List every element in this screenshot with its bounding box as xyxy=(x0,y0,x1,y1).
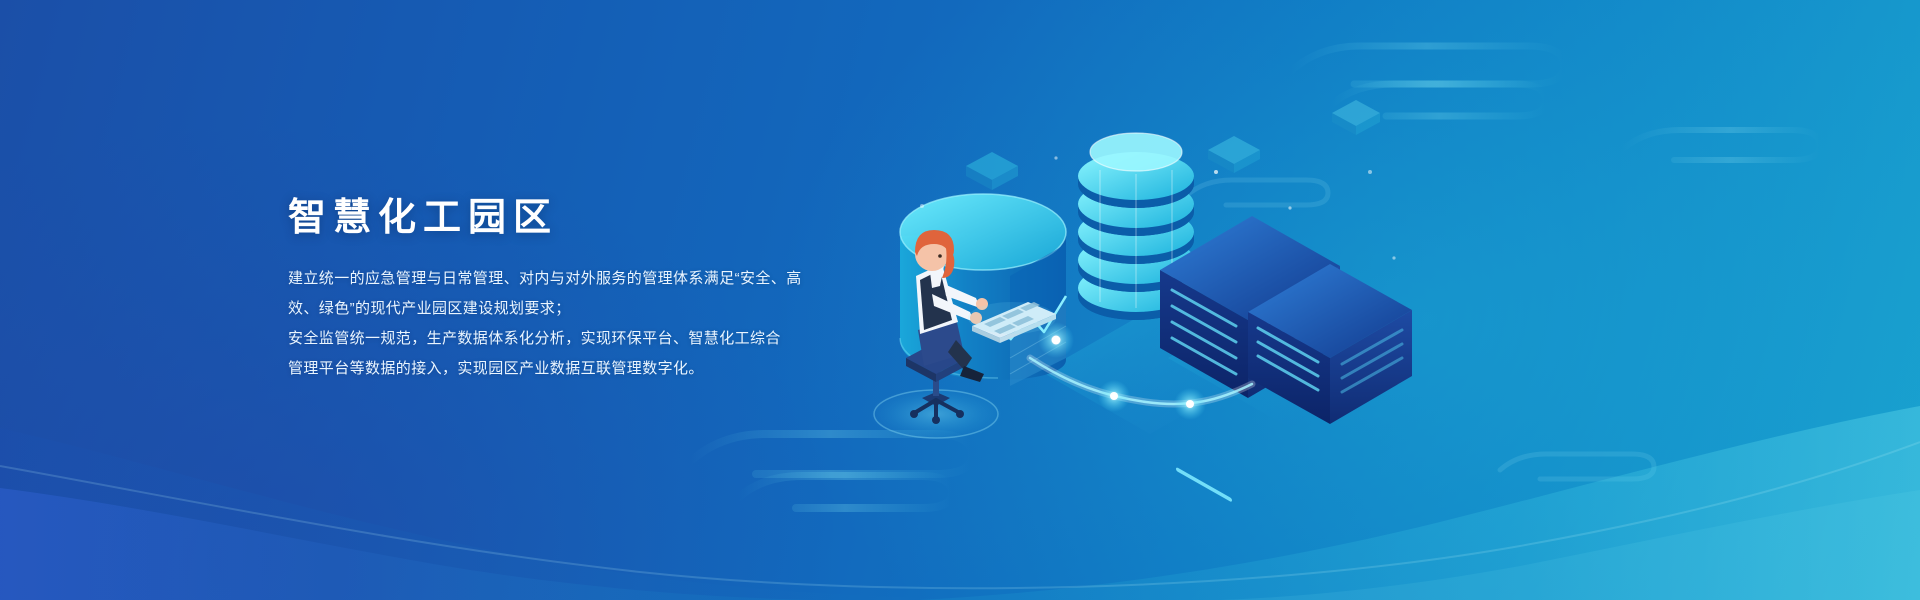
description-line-4: 管理平台等数据的接入，实现园区产业数据互联管理数字化。 xyxy=(288,354,908,384)
disc-top-cap xyxy=(1090,133,1182,171)
hero-banner: 智慧化工园区 建立统一的应急管理与日常管理、对内与对外服务的管理体系满足“安全、… xyxy=(0,0,1920,600)
floating-cube-3 xyxy=(1332,100,1380,135)
description-line-3: 安全监管统一规范，生产数据体系化分析，实现环保平台、智慧化工综合 xyxy=(288,324,908,354)
description-line-1: 建立统一的应急管理与日常管理、对内与对外服务的管理体系满足“安全、高 xyxy=(288,264,908,294)
cloud-shape-far-right xyxy=(1622,130,1820,160)
banner-description: 建立统一的应急管理与日常管理、对内与对外服务的管理体系满足“安全、高 效、绿色”… xyxy=(288,264,908,384)
isometric-smart-park-illustration xyxy=(860,40,1420,470)
description-line-2: 效、绿色”的现代产业园区建设规划要求； xyxy=(288,294,908,324)
page-title: 智慧化工园区 xyxy=(288,196,908,242)
banner-text-block: 智慧化工园区 建立统一的应急管理与日常管理、对内与对外服务的管理体系满足“安全、… xyxy=(288,196,908,384)
floating-cube-1 xyxy=(966,152,1018,190)
